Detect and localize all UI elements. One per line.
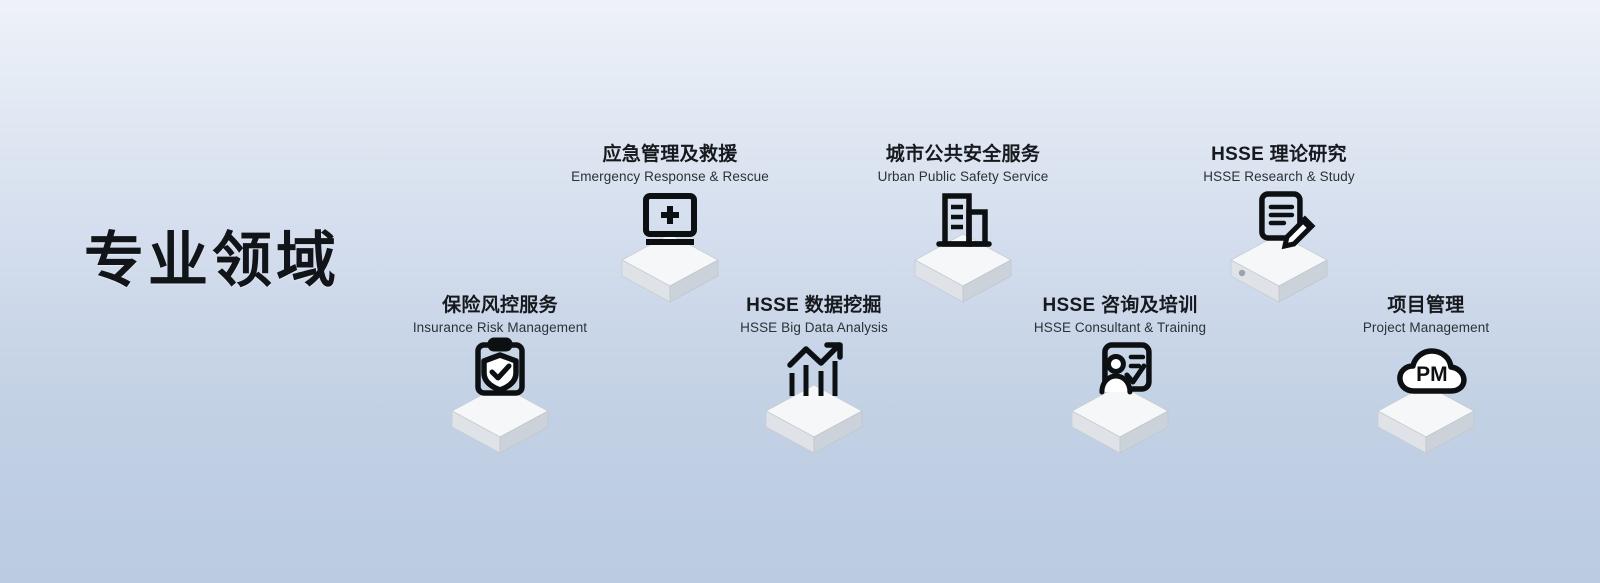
domain-label-cn: 城市公共安全服务 [833, 144, 1093, 166]
domain-label-en: Emergency Response & Rescue [540, 168, 800, 186]
domain-card-urban-public-safety-service[interactable]: 城市公共安全服务 Urban Public Safety Service [833, 144, 1093, 314]
domain-label-en: HSSE Consultant & Training [990, 319, 1250, 337]
domain-card-emergency-response-rescue[interactable]: 应急管理及救援 Emergency Response & Rescue [540, 144, 800, 314]
domain-label-cn: 保险风控服务 [370, 295, 630, 317]
domain-label-cn: HSSE 理论研究 [1149, 144, 1409, 166]
domain-label-cn: 应急管理及救援 [540, 144, 800, 166]
monitor-plus-icon [633, 188, 707, 262]
person-id-check-icon [1089, 339, 1163, 413]
domain-card-project-management[interactable]: 项目管理 Project Management PM [1296, 295, 1556, 465]
page-title: 专业领域 [84, 228, 340, 294]
cloud-pm-icon: PM [1395, 347, 1469, 421]
domain-label-en: HSSE Research & Study [1149, 168, 1409, 186]
domain-label-en: Insurance Risk Management [370, 319, 630, 337]
professional-domains-banner: 专业领域 应急管理及救援 Emergency Response & Rescue [0, 0, 1600, 583]
domain-label-cn: HSSE 数据挖掘 [684, 295, 944, 317]
domain-label-en: HSSE Big Data Analysis [684, 319, 944, 337]
domain-artwork: PM [1296, 345, 1556, 465]
domain-artwork [684, 345, 944, 465]
domain-label-en: Project Management [1296, 319, 1556, 337]
domain-card-hsse-big-data-analysis[interactable]: HSSE 数据挖掘 HSSE Big Data Analysis [684, 295, 944, 465]
pm-label: PM [1416, 363, 1448, 386]
domain-label-cn: HSSE 咨询及培训 [990, 295, 1250, 317]
domain-card-hsse-consultant-training[interactable]: HSSE 咨询及培训 HSSE Consultant & Training [990, 295, 1250, 465]
domain-label-en: Urban Public Safety Service [833, 168, 1093, 186]
domain-card-hsse-research-study[interactable]: HSSE 理论研究 HSSE Research & Study [1149, 144, 1409, 314]
document-pencil-icon [1248, 188, 1322, 262]
domain-artwork [990, 345, 1250, 465]
bar-chart-trend-icon [777, 339, 851, 413]
domain-card-insurance-risk-management[interactable]: 保险风控服务 Insurance Risk Management [370, 295, 630, 465]
buildings-icon [926, 190, 1000, 264]
clipboard-shield-check-icon [463, 337, 537, 411]
domain-artwork [370, 345, 630, 465]
domain-label-cn: 项目管理 [1296, 295, 1556, 317]
